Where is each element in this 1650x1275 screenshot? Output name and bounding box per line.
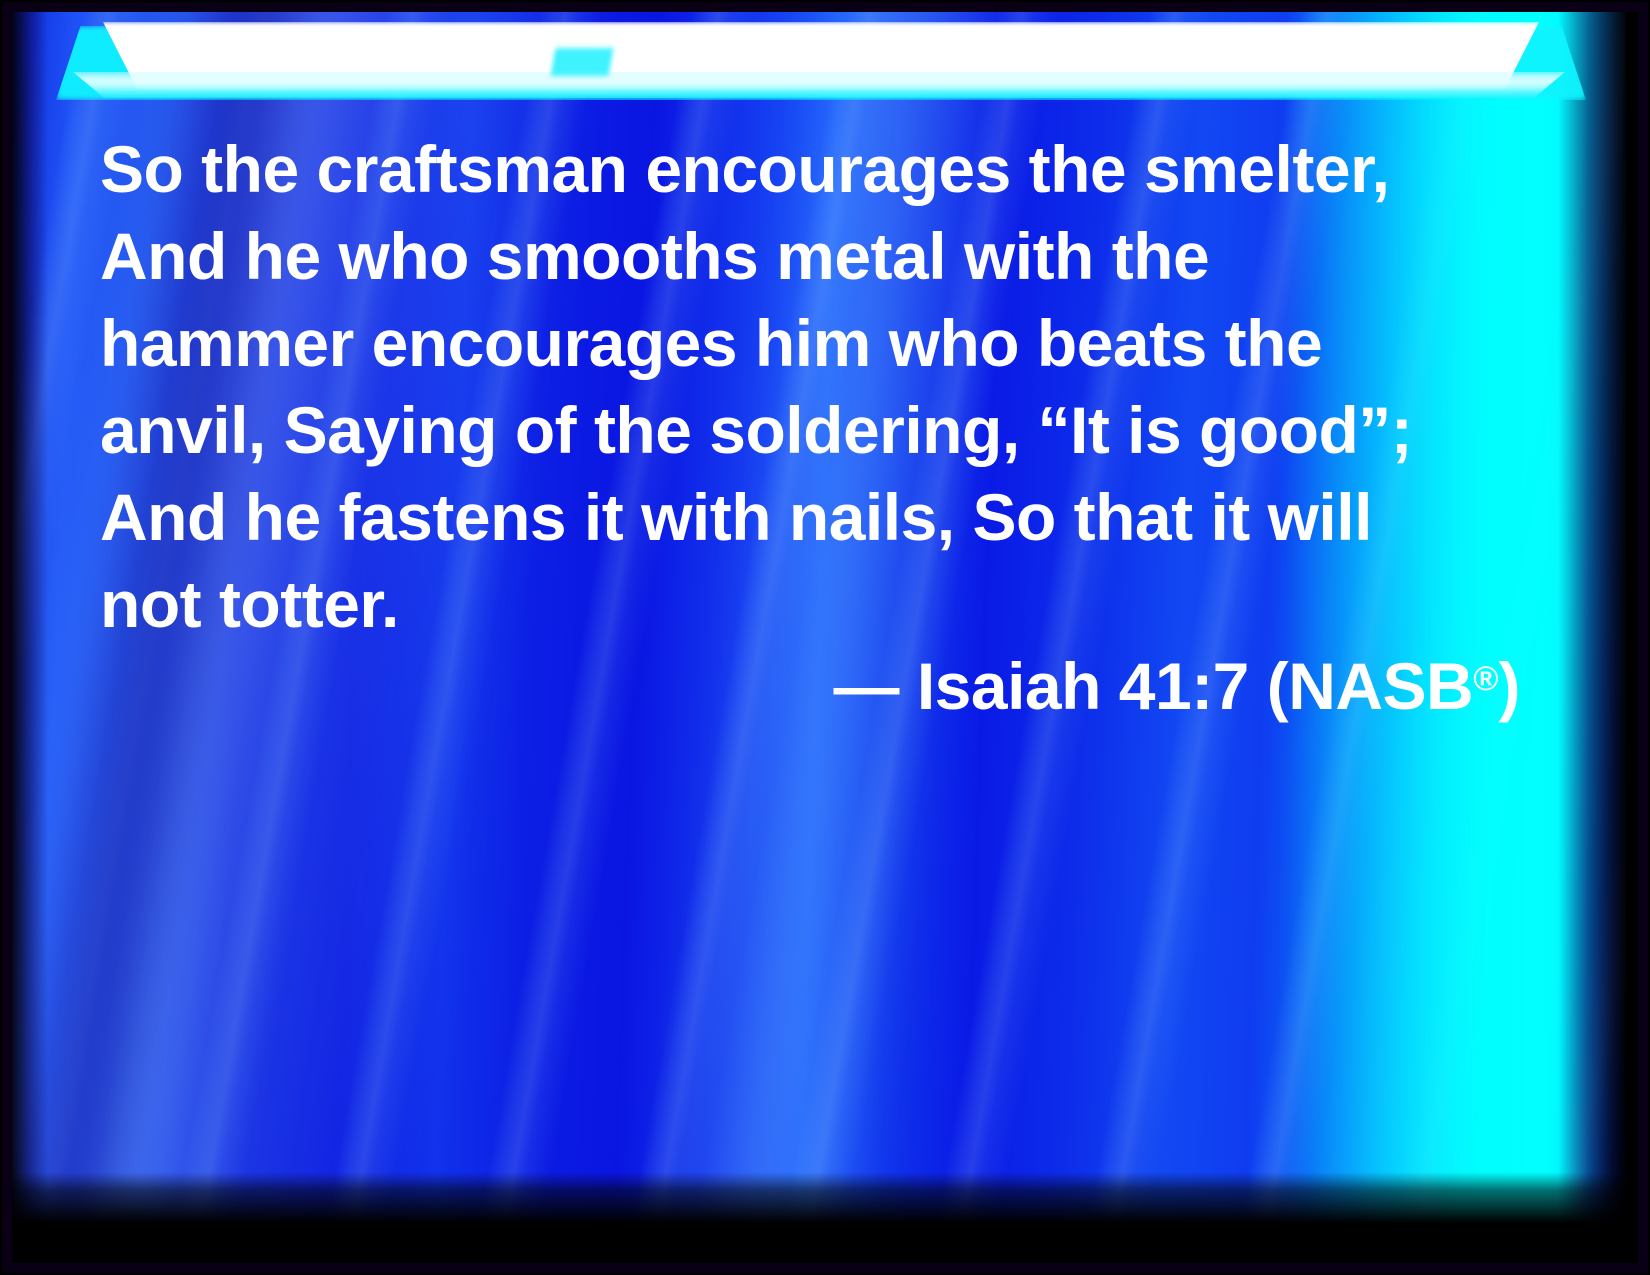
verse-text-block: So the craftsman encourages the smelter,…: [100, 126, 1520, 648]
background-bottom-vignette: [12, 1172, 1626, 1223]
verse-line: And he fastens it with nails, So that it…: [100, 474, 1520, 561]
background-left-vignette: [12, 8, 48, 1223]
verse-line: not totter.: [100, 561, 1520, 648]
attribution-suffix: ): [1499, 649, 1520, 723]
verse-line: And he who smooths metal with the: [100, 213, 1520, 300]
attribution-prefix: — Isaiah 41:7 (NASB: [834, 649, 1474, 723]
registered-trademark-symbol: ®: [1473, 660, 1498, 698]
verse-line: anvil, Saying of the soldering, “It is g…: [100, 387, 1520, 474]
verse-slide: So the craftsman encourages the smelter,…: [0, 0, 1650, 1275]
verse-line: So the craftsman encourages the smelter,: [100, 126, 1520, 213]
verse-line: hammer encourages him who beats the: [100, 300, 1520, 387]
verse-attribution: — Isaiah 41:7 (NASB®): [100, 638, 1520, 727]
slide-canvas: So the craftsman encourages the smelter,…: [12, 8, 1626, 1223]
background-right-vignette: [1558, 8, 1626, 1223]
